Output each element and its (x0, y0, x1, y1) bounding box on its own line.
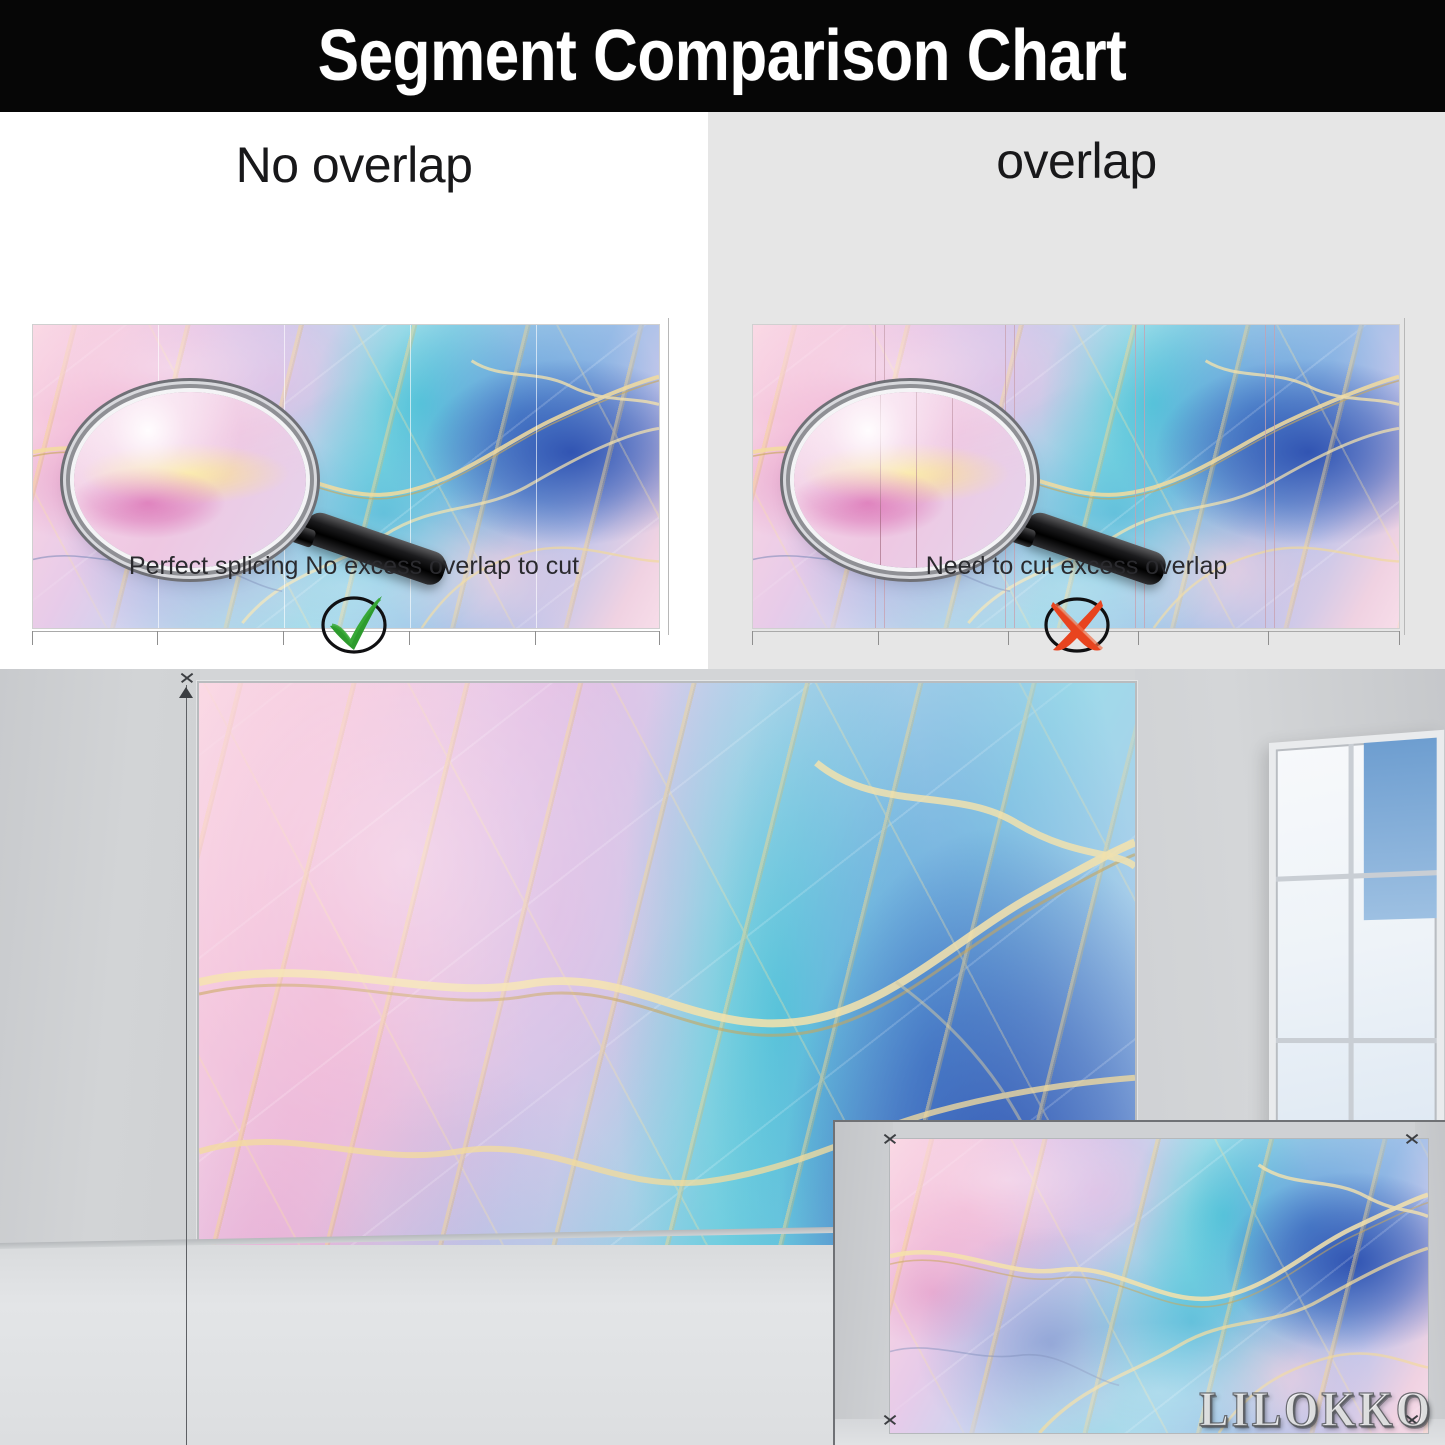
panel-heading-overlap: overlap (708, 132, 1445, 190)
caption-no-overlap: Perfect splicing No excess overlap to cu… (0, 552, 708, 581)
page-title: Segment Comparison Chart (318, 15, 1127, 97)
panel-seam-overlap (1265, 325, 1266, 628)
panel-seam (536, 325, 537, 628)
verdict-right (708, 590, 1445, 656)
inset-room-preview: LILOKKO (833, 1120, 1445, 1445)
sample-edge-mark (668, 318, 669, 635)
panel-heading-no-overlap: No overlap (0, 136, 708, 194)
verdict-left (0, 590, 708, 656)
marble-vein-texture (890, 1139, 1428, 1433)
sample-overlap (752, 324, 1400, 629)
room-scene: LILOKKO (0, 669, 1445, 1445)
panel-seam-overlap (1274, 325, 1275, 628)
red-cross-icon (1031, 590, 1123, 656)
marble-sheen (890, 1139, 1428, 1433)
corner-mark (883, 1413, 897, 1427)
corner-mark (1405, 1132, 1419, 1146)
comparison-panel-no-overlap: No overlap (0, 112, 708, 669)
corner-mark (883, 1132, 897, 1146)
corner-mark (1405, 1413, 1419, 1427)
title-banner: Segment Comparison Chart (0, 0, 1445, 112)
caption-overlap: Need to cut excess overlap (708, 552, 1445, 581)
green-check-icon (308, 590, 400, 656)
inset-mural (889, 1138, 1429, 1434)
gold-vein-overlay (890, 1139, 1428, 1433)
room-left-wall (0, 669, 200, 1309)
comparison-section: No overlap (0, 112, 1445, 669)
sample-no-overlap (32, 324, 660, 629)
inset-left-wall (835, 1122, 893, 1445)
sample-edge-mark (1404, 318, 1405, 635)
